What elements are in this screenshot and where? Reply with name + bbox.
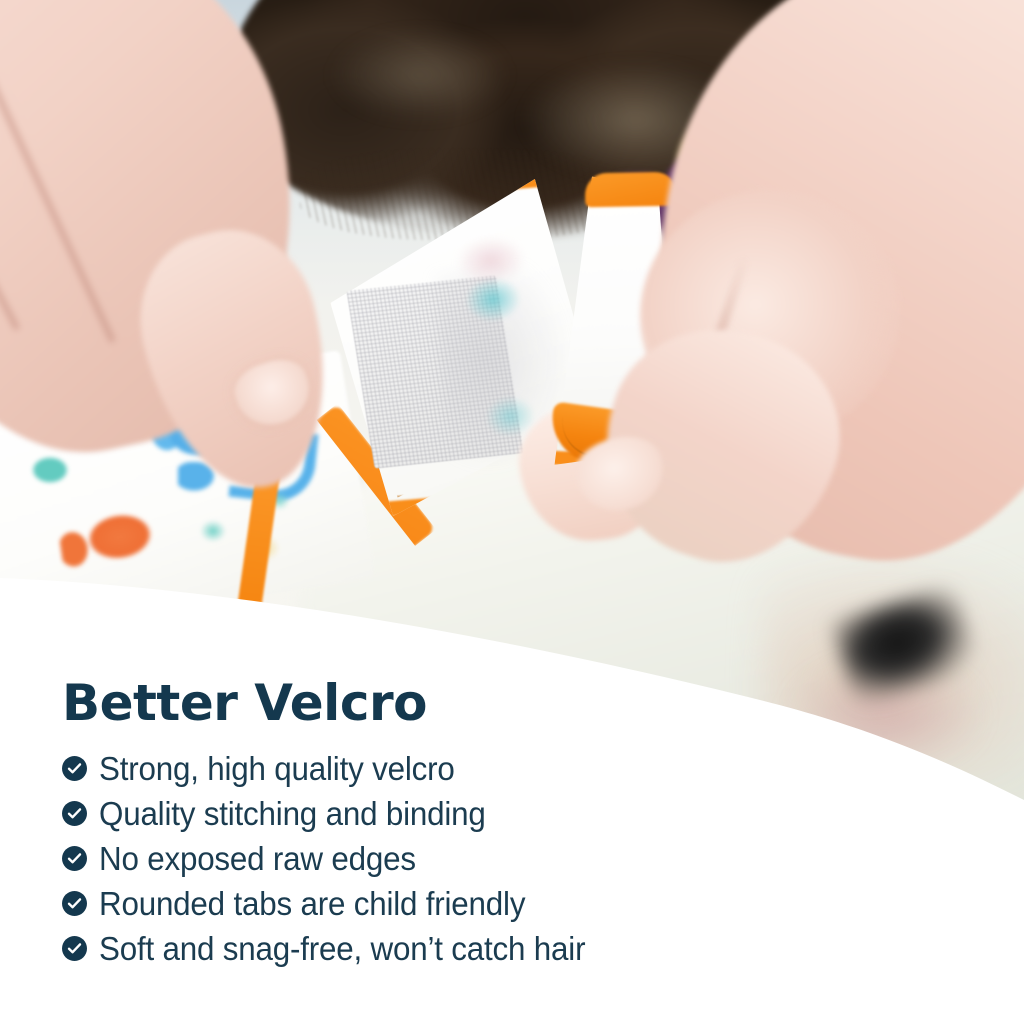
list-item-label: Soft and snag-free, won’t catch hair [99,932,585,965]
feature-list: Strong, high quality velcro Quality stit… [62,746,962,971]
check-circle-icon [62,801,87,826]
check-circle-icon [62,936,87,961]
feature-text-block: Better Velcro Strong, high quality velcr… [0,0,1024,1024]
list-item-label: No exposed raw edges [99,842,416,875]
list-item-label: Strong, high quality velcro [99,752,455,785]
list-item-label: Rounded tabs are child friendly [99,887,525,920]
check-circle-icon [62,846,87,871]
check-circle-icon [62,756,87,781]
page-title: Better Velcro [62,678,427,728]
product-feature-card: Better Velcro Strong, high quality velcr… [0,0,1024,1024]
list-item: Strong, high quality velcro [62,746,962,791]
list-item: Rounded tabs are child friendly [62,881,962,926]
check-circle-icon [62,891,87,916]
list-item: No exposed raw edges [62,836,962,881]
list-item-label: Quality stitching and binding [99,797,486,830]
list-item: Soft and snag-free, won’t catch hair [62,926,962,971]
list-item: Quality stitching and binding [62,791,962,836]
